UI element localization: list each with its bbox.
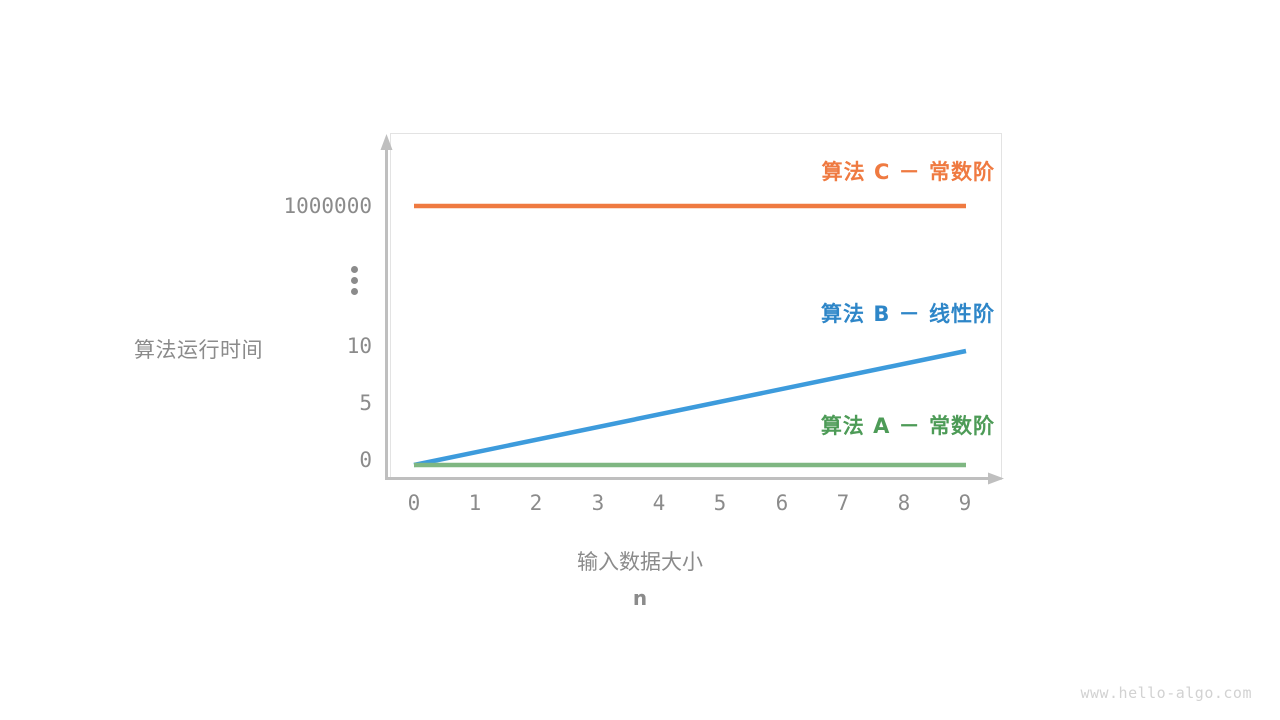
x-tick-1: 1 <box>469 493 482 514</box>
series-label-b: 算法 B － 线性阶 <box>821 298 995 328</box>
y-axis-ellipsis-icon <box>351 266 358 295</box>
series-label-c: 算法 C － 常数阶 <box>822 156 995 186</box>
x-axis-arrow-icon <box>988 473 1004 485</box>
x-axis-title: 输入数据大小 n <box>0 545 1280 616</box>
y-tick-5: 5 <box>359 393 372 414</box>
x-axis <box>387 473 1005 485</box>
series-label-a: 算法 A － 常数阶 <box>821 410 995 440</box>
y-tick-10: 10 <box>347 336 372 357</box>
y-tick-1000000: 1000000 <box>283 196 372 217</box>
ellipsis-dot <box>351 288 358 295</box>
y-axis <box>381 134 393 480</box>
x-tick-8: 8 <box>898 493 911 514</box>
x-tick-3: 3 <box>592 493 605 514</box>
x-tick-6: 6 <box>776 493 789 514</box>
y-axis-arrow-icon <box>381 134 393 150</box>
x-tick-5: 5 <box>714 493 727 514</box>
x-axis-title-text: 输入数据大小 <box>0 545 1280 581</box>
x-tick-0: 0 <box>408 493 421 514</box>
y-tick-0: 0 <box>359 450 372 471</box>
x-tick-7: 7 <box>837 493 850 514</box>
x-tick-4: 4 <box>653 493 666 514</box>
ellipsis-dot <box>351 266 358 273</box>
y-axis-title: 算法运行时间 <box>134 334 263 364</box>
chart-canvas: 1000000 10 5 0 算法运行时间 0 1 2 3 4 5 6 7 8 … <box>0 0 1280 720</box>
x-tick-9: 9 <box>959 493 972 514</box>
watermark: www.hello-algo.com <box>1080 684 1252 702</box>
ellipsis-dot <box>351 277 358 284</box>
series-line-b <box>414 351 966 465</box>
x-tick-2: 2 <box>530 493 543 514</box>
x-axis-title-variable: n <box>0 581 1280 615</box>
